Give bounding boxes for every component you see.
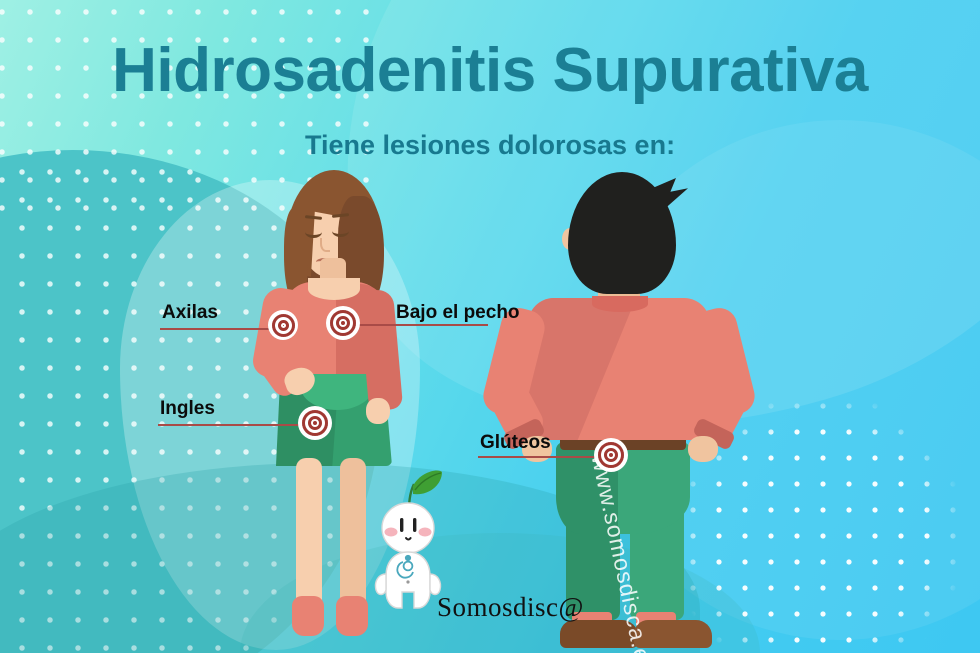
callout-label-gluteos: Glúteos <box>480 432 551 454</box>
target-icon-axilas <box>268 310 298 340</box>
leader-line-gluteos <box>478 456 606 458</box>
woman-shoe-right <box>336 596 368 636</box>
page-subtitle: Tiene lesiones dolorosas en: <box>0 130 980 161</box>
man-hand-right <box>688 436 718 462</box>
woman-nose <box>320 238 330 252</box>
callout-label-ingles: Ingles <box>160 398 215 420</box>
callout-label-axilas: Axilas <box>162 302 218 324</box>
infographic-poster: Hidrosadenitis Supurativa Tiene lesiones… <box>0 0 980 653</box>
woman-eye-left <box>305 226 322 238</box>
page-title: Hidrosadenitis Supurativa <box>0 40 980 102</box>
woman-eye-right <box>332 225 349 237</box>
logo-text: Somosdisc@ <box>437 592 584 623</box>
target-icon-gluteos <box>594 438 628 472</box>
target-icon-bajo-el-pecho <box>326 306 360 340</box>
leader-line-axilas <box>160 328 280 330</box>
woman-leg-left <box>296 458 322 608</box>
leader-line-ingles <box>158 424 310 426</box>
callout-label-bajo-el-pecho: Bajo el pecho <box>396 302 520 324</box>
woman-collar <box>308 278 360 300</box>
leader-line-bajo-el-pecho <box>352 324 488 326</box>
woman-shoe-left <box>292 596 324 636</box>
man-collar <box>592 296 648 312</box>
woman-hand-right <box>366 398 390 424</box>
logo-mascot <box>372 466 446 616</box>
woman-leg-right <box>340 458 366 608</box>
target-icon-ingles <box>298 406 332 440</box>
